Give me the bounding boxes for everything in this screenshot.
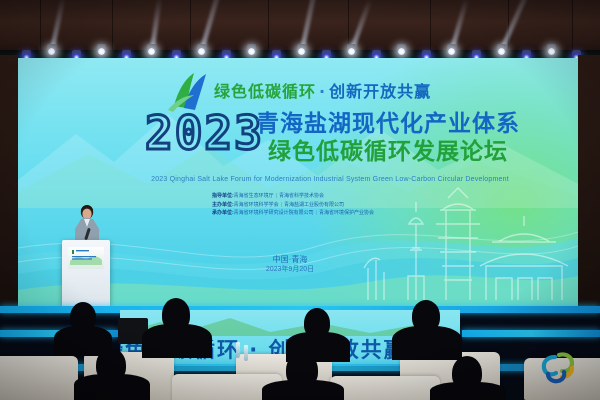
backdrop-tagline: 绿色低碳循环·创新开放共赢	[214, 78, 431, 102]
tagline-green: 绿色低碳循环	[214, 82, 316, 101]
left-wall	[0, 55, 18, 317]
water-bottle	[244, 345, 248, 361]
stage-light-white	[147, 44, 156, 55]
organizer-name: 青海省环境科学学会	[234, 202, 279, 208]
led-strip-right	[462, 330, 600, 337]
attendee-shoulders	[430, 382, 506, 400]
organizer-name: 青海省环境科学研究设计院有限公司	[234, 210, 314, 216]
podium-branding	[68, 247, 104, 269]
stage-light-white	[97, 44, 106, 55]
stage-light-white	[397, 44, 406, 55]
stage-light-white	[497, 44, 506, 55]
stage-light-white	[547, 44, 556, 55]
attendee-shoulders	[142, 324, 212, 358]
forum-title-line2: 绿色低碳循环发展论坛	[268, 140, 508, 165]
stage-light-white	[47, 44, 56, 55]
chair	[0, 356, 78, 400]
tagline-separator: ·	[316, 82, 329, 101]
stage-light-white	[447, 44, 456, 55]
interlocking-rings-logo-icon	[538, 348, 578, 386]
attendee-shoulders	[262, 380, 344, 400]
stage-light-white	[197, 44, 206, 55]
stage-light-white	[247, 44, 256, 55]
tagline-blue: 创新开放共赢	[329, 82, 431, 101]
organizer-name: 青海省生态环境厅	[234, 193, 274, 199]
organizer-role: 指导单位:	[212, 193, 234, 199]
organizer-list: 指导单位:青海省生态环境厅|青海省科学技术协会 主办单位:青海省环境科学学会|青…	[212, 192, 374, 218]
landmark-lineart-icon	[362, 180, 572, 308]
right-wall	[578, 55, 600, 317]
stage-light-white	[347, 44, 356, 55]
organizer-role: 主办单位:	[212, 202, 234, 208]
chair	[330, 376, 440, 400]
forum-title-line1: 青海盐湖现代化产业体系	[256, 112, 520, 137]
attendee-shoulders	[74, 374, 150, 400]
organizer-name: 青海省科学技术协会	[279, 193, 324, 199]
organizer-role: 承办单位:	[212, 210, 234, 216]
organizer-row: 指导单位:青海省生态环境厅|青海省科学技术协会	[212, 192, 374, 201]
organizer-row: 主办单位:青海省环境科学学会|青海盐湖工业股份有限公司	[212, 201, 374, 210]
water-bottle	[236, 342, 240, 358]
organizer-row: 承办单位:青海省环境科学研究设计院有限公司|青海省环境保护产业协会	[212, 209, 374, 218]
organizer-name: 青海盐湖工业股份有限公司	[284, 202, 344, 208]
stage-light-white	[297, 44, 306, 55]
screenshot-root: 绿色低碳循环·创新开放共赢 2023 青海盐湖现代化产业体系 绿色低碳循环发展论…	[0, 0, 600, 400]
attendee-shoulders	[392, 326, 462, 360]
event-year: 2023	[145, 110, 264, 156]
